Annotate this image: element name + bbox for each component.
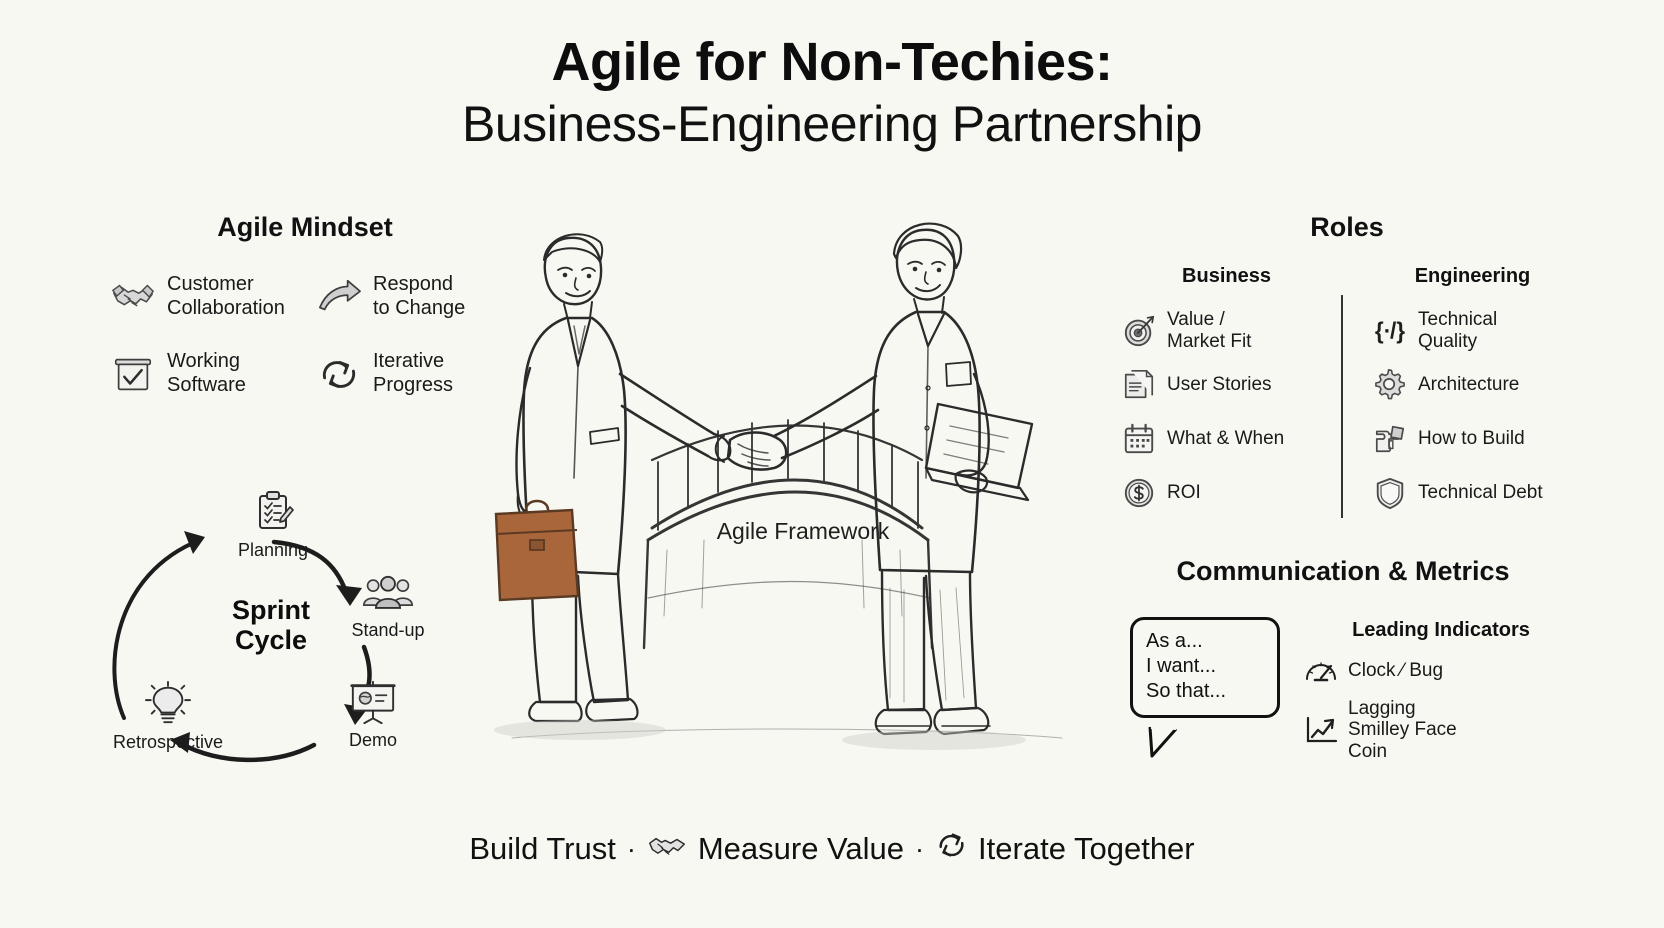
calendar-icon — [1122, 422, 1156, 456]
mindset-item-label: Customer Collaboration — [167, 273, 285, 320]
illustration-caption: Agile Framework — [688, 518, 918, 545]
puzzle-pieces-icon — [1373, 422, 1407, 456]
metric-item-label: Lagging Smilley Face Coin — [1348, 698, 1457, 762]
documents-icon — [1122, 368, 1156, 402]
mindset-item-label: Working Software — [167, 350, 246, 397]
role-item-label: How to Build — [1418, 428, 1525, 450]
roles-section: Roles Business Value / — [1122, 212, 1572, 520]
speedometer-icon — [1304, 656, 1338, 686]
user-story-text: As a... I want... So that... — [1146, 629, 1264, 705]
handshake-bridge-illustration: Agile Framework — [452, 178, 1112, 778]
metric-item-clock-bug: Clock ⁄ Bug — [1304, 656, 1578, 686]
footer-part-2: Measure Value — [698, 831, 904, 867]
infographic-canvas: Agile for Non-Techies: Business-Engineer… — [0, 0, 1664, 928]
roles-heading: Roles — [1122, 212, 1572, 243]
role-item-value-market-fit: Value / Market Fit — [1122, 304, 1331, 358]
sprint-node-label: Retrospective — [113, 732, 223, 752]
roles-business-column: Business Value / Market Fit — [1122, 265, 1347, 520]
roles-business-heading: Business — [1122, 265, 1331, 288]
communication-metrics-section: Communication & Metrics As a... I want..… — [1108, 556, 1578, 774]
curved-arrow-icon — [316, 277, 362, 317]
user-story-bubble: As a... I want... So that... — [1130, 617, 1290, 737]
sprint-node-standup: Stand-up — [323, 574, 453, 641]
presentation-board-icon — [318, 680, 428, 729]
trend-chart-icon — [1304, 715, 1338, 745]
mindset-item-label: Iterative Progress — [373, 350, 453, 397]
title-line-1: Agile for Non-Techies: — [0, 34, 1664, 91]
sprint-node-label: Demo — [349, 730, 397, 750]
role-item-how-to-build: How to Build — [1373, 412, 1572, 466]
svg-text:{∙/}: {∙/} — [1375, 318, 1405, 344]
role-item-label: Technical Quality — [1418, 309, 1497, 352]
sprint-node-demo: Demo — [318, 680, 428, 751]
sketch-scene — [452, 178, 1112, 778]
code-braces-icon: {∙/} — [1373, 314, 1407, 348]
agile-mindset-heading: Agile Mindset — [110, 212, 500, 243]
role-item-roi: ROI — [1122, 466, 1331, 520]
shield-icon — [1373, 476, 1407, 510]
mindset-item-working-software: Working Software — [110, 350, 294, 397]
metric-item-label: Clock ⁄ Bug — [1348, 660, 1443, 681]
refresh-cycle-icon — [316, 354, 362, 394]
footer-separator-1: · — [627, 834, 636, 865]
role-item-label: Architecture — [1418, 374, 1519, 396]
footer-part-1: Build Trust — [469, 831, 615, 867]
role-item-label: Value / Market Fit — [1167, 309, 1251, 352]
speech-bubble-tail-icon — [1146, 726, 1186, 763]
footer-part-3: Iterate Together — [978, 831, 1195, 867]
role-item-what-and-when: What & When — [1122, 412, 1331, 466]
communication-metrics-heading: Communication & Metrics — [1108, 556, 1578, 587]
role-item-architecture: Architecture — [1373, 358, 1572, 412]
roles-engineering-heading: Engineering — [1373, 265, 1572, 288]
people-group-icon — [323, 574, 453, 619]
leading-indicators-heading: Leading Indicators — [1304, 619, 1578, 642]
metric-item-lagging: Lagging Smilley Face Coin — [1304, 698, 1578, 762]
role-item-label: User Stories — [1167, 374, 1272, 396]
title-line-2: Business-Engineering Partnership — [0, 95, 1664, 154]
role-item-technical-debt: Technical Debt — [1373, 466, 1572, 520]
clipboard-checklist-icon — [213, 490, 333, 539]
mindset-item-customer-collaboration: Customer Collaboration — [110, 273, 294, 320]
checkbox-software-icon — [110, 354, 156, 394]
page-title: Agile for Non-Techies: Business-Engineer… — [0, 34, 1664, 154]
footer-tagline: Build Trust · Measure Value · Iterate To… — [0, 830, 1664, 868]
refresh-cycle-icon — [935, 830, 967, 868]
sprint-node-planning: Planning — [213, 490, 333, 561]
lightbulb-icon — [78, 680, 258, 731]
footer-separator-2: · — [915, 834, 924, 865]
role-item-label: Technical Debt — [1418, 482, 1543, 504]
roles-divider — [1341, 295, 1343, 518]
role-item-user-stories: User Stories — [1122, 358, 1331, 412]
role-item-technical-quality: {∙/} Technical Quality — [1373, 304, 1572, 358]
sprint-node-retrospective: Retrospective — [78, 680, 258, 753]
target-dart-icon — [1122, 314, 1156, 348]
role-item-label: ROI — [1167, 482, 1201, 504]
roles-engineering-column: Engineering {∙/} Technical Quality — [1347, 265, 1572, 520]
sprint-node-label: Planning — [238, 540, 308, 560]
handshake-icon — [110, 277, 156, 317]
sprint-cycle-diagram: Sprint Cycle Planning — [78, 482, 468, 782]
handshake-icon — [647, 831, 687, 867]
dollar-coin-icon — [1122, 476, 1156, 510]
leading-indicators-block: Leading Indicators Cloc — [1304, 617, 1578, 774]
role-item-label: What & When — [1167, 428, 1284, 450]
agile-mindset-section: Agile Mindset Customer Collaboration — [110, 212, 500, 397]
sprint-node-label: Stand-up — [351, 620, 424, 640]
gear-icon — [1373, 368, 1407, 402]
